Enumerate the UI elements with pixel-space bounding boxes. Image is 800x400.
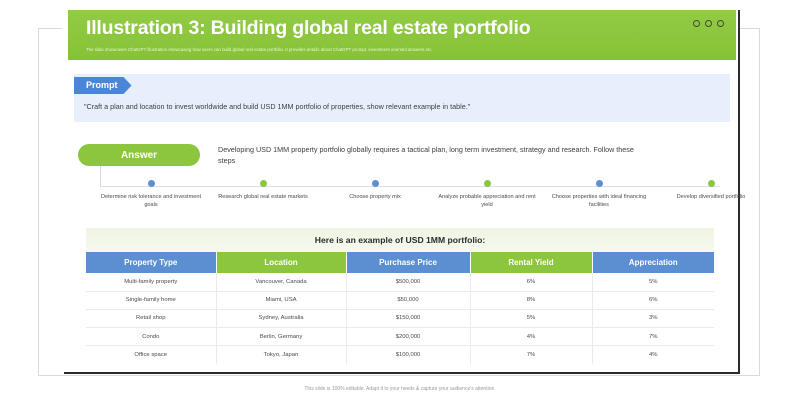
timeline-node-icon [372,180,379,187]
cell-location: Miami, USA [216,291,346,309]
cell-property-type: Single-family home [86,291,216,309]
table-header-cell[interactable]: Appreciation [592,252,714,273]
cell-appreciation: 5% [592,273,714,291]
cell-appreciation: 7% [592,328,714,346]
timeline-step-label: Analyze probable appreciation and rent y… [432,194,542,209]
cell-rental-yield: 4% [470,328,592,346]
timeline-node-icon [596,180,603,187]
cell-rental-yield: 8% [470,291,592,309]
timeline-step-label: Choose property mix [320,194,430,202]
cell-rental-yield: 5% [470,309,592,327]
page-title: Illustration 3: Building global real est… [86,17,530,40]
timeline-step[interactable]: Develop diversified portfolio [656,180,766,202]
timeline-node-icon [148,180,155,187]
slide-root: Illustration 3: Building global real est… [0,0,800,400]
cell-location: Sydney, Australia [216,309,346,327]
cell-purchase-price: $100,000 [346,346,470,364]
cell-purchase-price: $50,000 [346,291,470,309]
timeline-step-label: Choose properties with ideal financing f… [544,194,654,209]
footer-note: This slide is 100% editable. Adapt it to… [0,386,800,392]
cell-location: Berlin, Germany [216,328,346,346]
table-row: Multi-family property Vancouver, Canada … [86,273,714,291]
timeline-step[interactable]: Choose property mix [320,180,430,202]
table-header-row: Property Type Location Purchase Price Re… [86,252,714,273]
timeline-step[interactable]: Determine risk tolerance and investment … [96,180,206,209]
cell-rental-yield: 6% [470,273,592,291]
portfolio-table: Property Type Location Purchase Price Re… [86,252,714,364]
window-dot-icon[interactable] [693,20,700,27]
table-header-cell[interactable]: Location [216,252,346,273]
timeline-step-label: Develop diversified portfolio [656,194,766,202]
table-header-cell[interactable]: Property Type [86,252,216,273]
portfolio-table-block: Here is an example of USD 1MM portfolio:… [86,228,714,368]
cell-location: Vancouver, Canada [216,273,346,291]
table-row: Office space Tokyo, Japan $100,000 7% 4% [86,346,714,364]
cell-purchase-price: $200,000 [346,328,470,346]
timeline: Determine risk tolerance and investment … [96,180,726,220]
table-row: Retail shop Sydney, Australia $150,000 5… [86,309,714,327]
window-dot-icon[interactable] [705,20,712,27]
cell-appreciation: 4% [592,346,714,364]
cell-rental-yield: 7% [470,346,592,364]
timeline-step[interactable]: Analyze probable appreciation and rent y… [432,180,542,209]
timeline-step[interactable]: Choose properties with ideal financing f… [544,180,654,209]
cell-location: Tokyo, Japan [216,346,346,364]
window-dot-icon[interactable] [717,20,724,27]
header-banner: Illustration 3: Building global real est… [68,10,736,60]
cell-property-type: Retail shop [86,309,216,327]
table-header-cell[interactable]: Rental Yield [470,252,592,273]
table-row: Condo Berlin, Germany $200,000 4% 7% [86,328,714,346]
prompt-tag: Prompt [74,77,132,94]
cell-property-type: Condo [86,328,216,346]
answer-text: Developing USD 1MM property portfolio gl… [218,144,648,166]
window-dots [693,20,724,27]
prompt-panel: Prompt "Craft a plan and location to inv… [74,74,730,122]
timeline-node-icon [708,180,715,187]
table-header-cell[interactable]: Purchase Price [346,252,470,273]
table-caption: Here is an example of USD 1MM portfolio: [86,228,714,252]
prompt-text: "Craft a plan and location to invest wor… [84,102,470,111]
cell-appreciation: 6% [592,291,714,309]
table-row: Single-family home Miami, USA $50,000 8%… [86,291,714,309]
timeline-step-label: Determine risk tolerance and investment … [96,194,206,209]
cell-property-type: Office space [86,346,216,364]
cell-purchase-price: $500,000 [346,273,470,291]
cell-appreciation: 3% [592,309,714,327]
timeline-node-icon [484,180,491,187]
timeline-step[interactable]: Research global real estate markets [208,180,318,202]
cell-property-type: Multi-family property [86,273,216,291]
cell-purchase-price: $150,000 [346,309,470,327]
timeline-node-icon [260,180,267,187]
timeline-step-label: Research global real estate markets [208,194,318,202]
page-subtitle: The slide showcases ChatGPT illustration… [86,47,686,53]
answer-pill: Answer [78,144,200,166]
